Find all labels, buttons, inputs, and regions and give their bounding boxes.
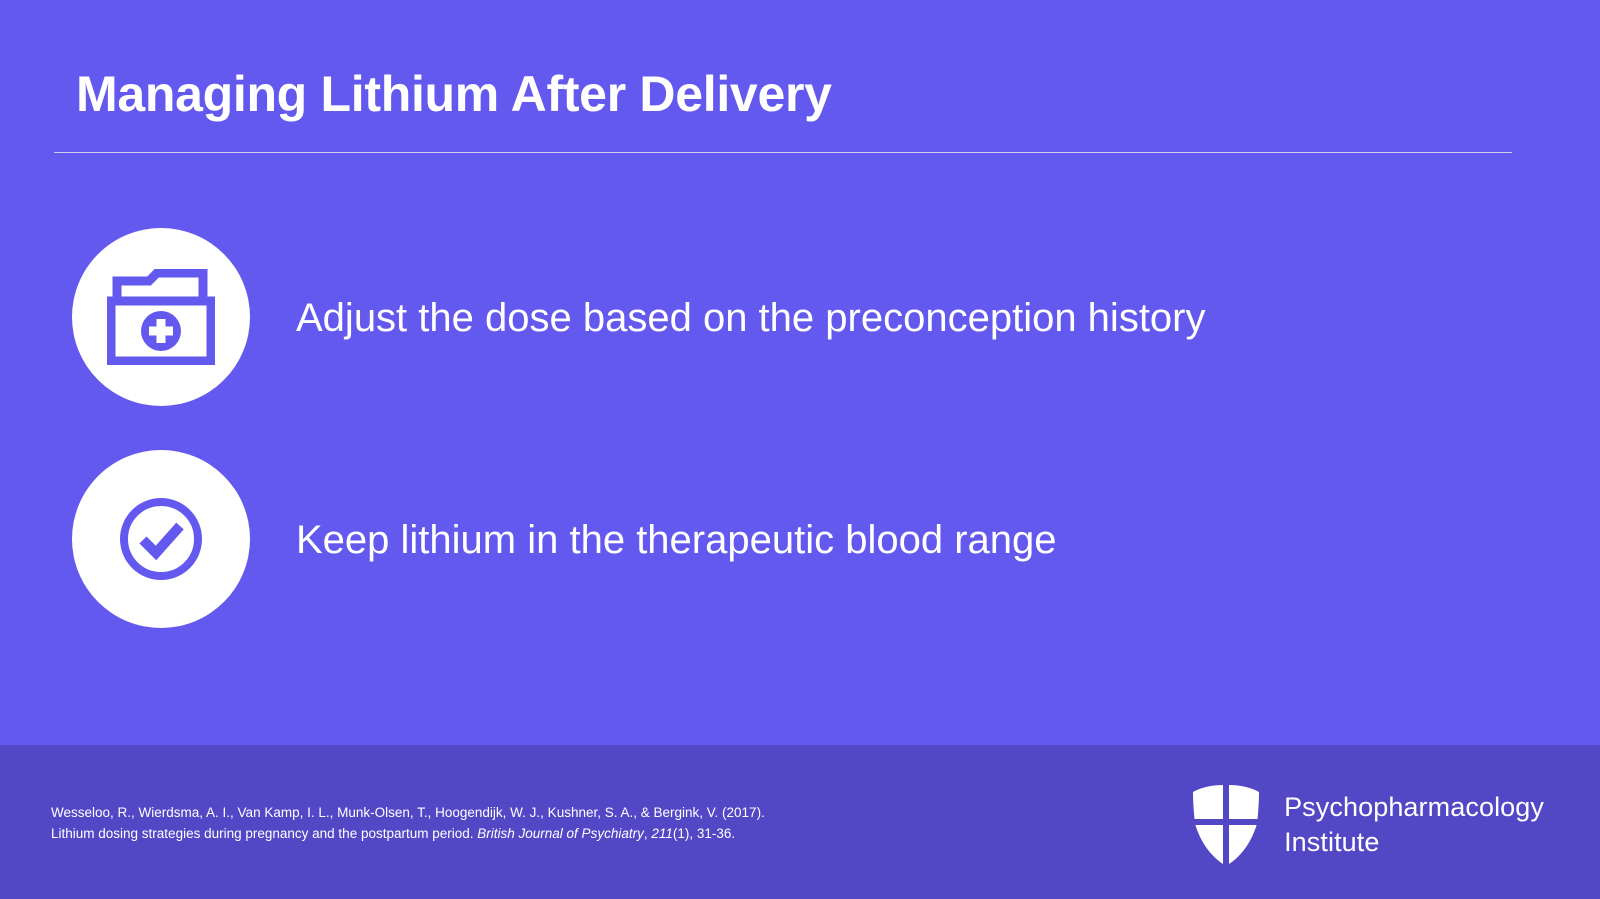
citation-pages: (1), 31-36. <box>673 826 735 841</box>
list-item-label: Adjust the dose based on the preconcepti… <box>296 293 1206 343</box>
bullet-list: Adjust the dose based on the preconcepti… <box>0 228 1600 672</box>
citation-title: Lithium dosing strategies during pregnan… <box>51 826 477 841</box>
list-item: Adjust the dose based on the preconcepti… <box>0 228 1600 408</box>
list-item: Keep lithium in the therapeutic blood ra… <box>0 450 1600 630</box>
brand-name-line-1: Psychopharmacology <box>1284 792 1544 822</box>
brand-name-line-2: Institute <box>1284 825 1544 860</box>
shield-logo-icon <box>1190 783 1262 867</box>
title-block: Managing Lithium After Delivery <box>76 66 1524 124</box>
medical-kit-icon <box>107 269 215 365</box>
citation-line-1: Wesseloo, R., Wierdsma, A. I., Van Kamp,… <box>51 803 765 824</box>
footer-bar: Wesseloo, R., Wierdsma, A. I., Van Kamp,… <box>0 745 1600 899</box>
citation: Wesseloo, R., Wierdsma, A. I., Van Kamp,… <box>51 803 765 845</box>
list-item-label: Keep lithium in the therapeutic blood ra… <box>296 515 1057 565</box>
icon-badge <box>72 228 250 406</box>
page-title: Managing Lithium After Delivery <box>76 66 1524 124</box>
brand-name: Psychopharmacology Institute <box>1284 790 1544 859</box>
title-divider <box>54 152 1512 153</box>
citation-journal: British Journal of Psychiatry <box>477 826 644 841</box>
slide: Managing Lithium After Delivery <box>0 0 1600 899</box>
citation-volume: 211 <box>651 826 673 841</box>
check-circle-icon <box>113 491 209 587</box>
citation-line-2: Lithium dosing strategies during pregnan… <box>51 824 765 845</box>
icon-badge <box>72 450 250 628</box>
brand-lockup: Psychopharmacology Institute <box>1190 783 1544 867</box>
